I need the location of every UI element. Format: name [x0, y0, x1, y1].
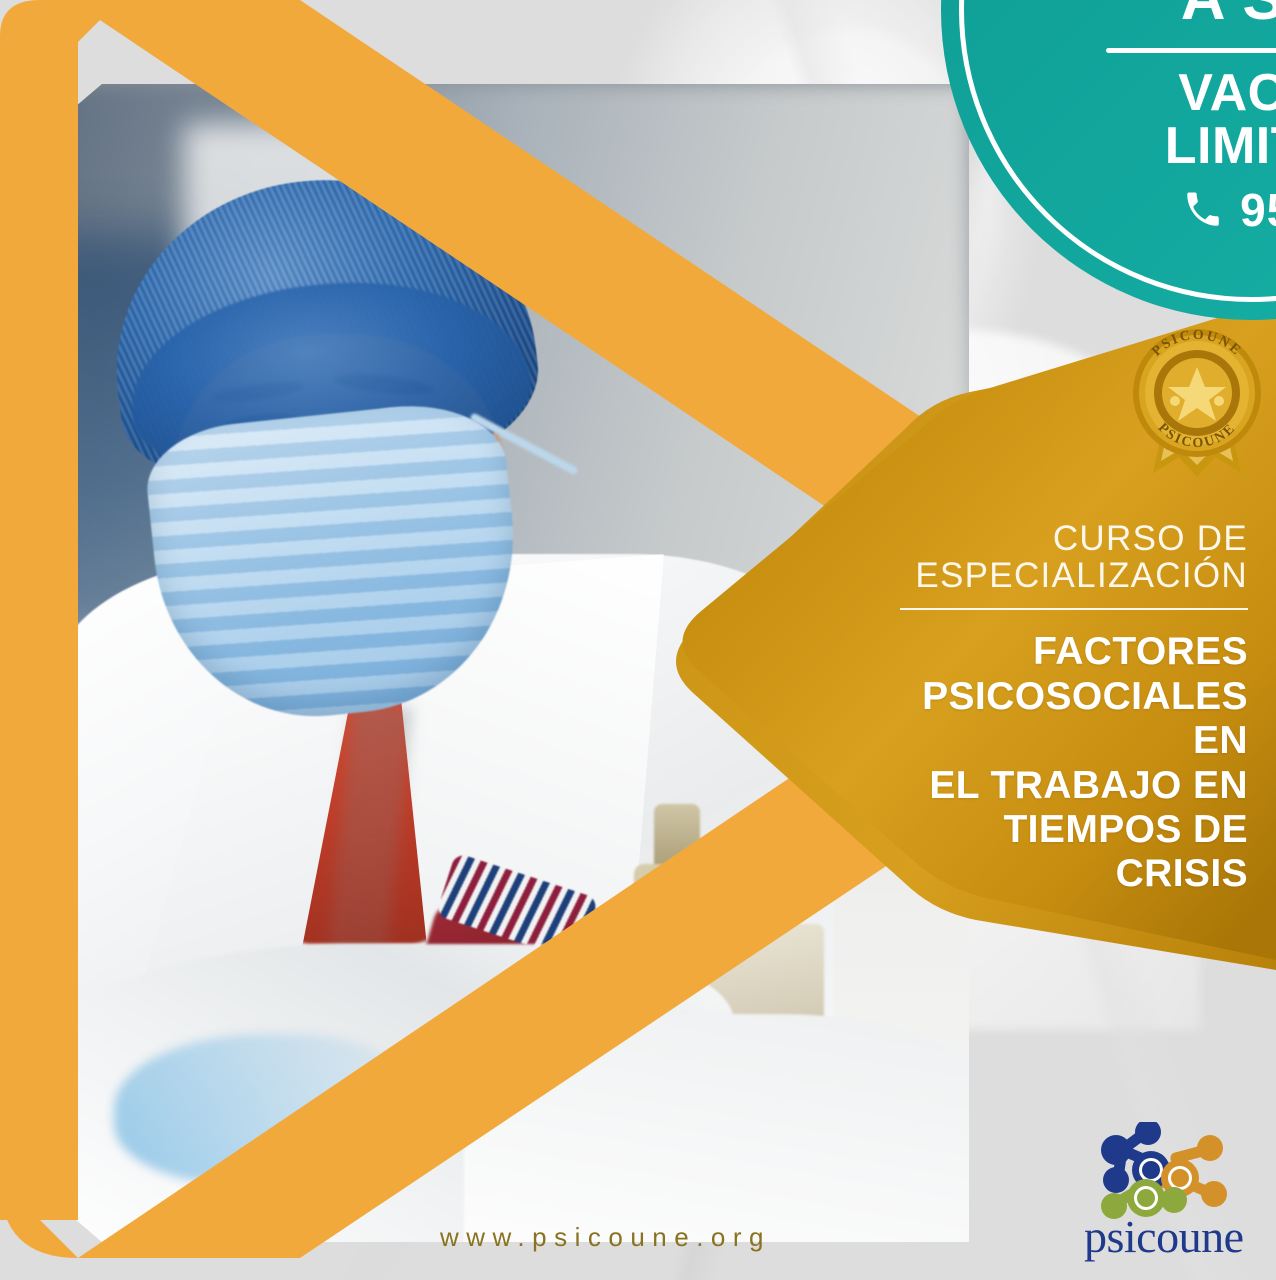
psicoune-wordmark: psicoune: [1084, 1211, 1244, 1262]
price-badge-content: A S/. VACA LIMITA 958: [941, 0, 1276, 320]
course-title-line-3: EL TRABAJO EN: [900, 764, 1248, 808]
course-kicker: CURSO DE ESPECIALIZACIÓN: [900, 520, 1248, 594]
price-label: A S/.: [941, 0, 1276, 30]
phone-row: 958: [941, 183, 1276, 237]
course-title-line-2: PSICOSOCIALES EN: [900, 675, 1248, 764]
phone-number: 958: [1240, 183, 1276, 237]
quality-seal-medal: PSICOUNE PSICOUNE: [1113, 305, 1276, 490]
course-text-block: CURSO DE ESPECIALIZACIÓN FACTORES PSICOS…: [900, 520, 1248, 897]
course-title-line-4: TIEMPOS DE: [900, 808, 1248, 852]
course-kicker-line-1: CURSO DE: [900, 520, 1248, 557]
course-kicker-line-2: ESPECIALIZACIÓN: [900, 557, 1248, 594]
seats-line-1: VACA: [941, 67, 1276, 120]
psicoune-logo: psicoune: [1080, 1122, 1260, 1262]
badge-divider: [1106, 48, 1276, 53]
course-kicker-divider: [900, 608, 1248, 610]
course-title-line-1: FACTORES: [900, 630, 1248, 674]
phone-icon: [1182, 189, 1224, 231]
seats-line-2: LIMITA: [941, 120, 1276, 173]
promotional-poster: A S/. VACA LIMITA 958: [0, 0, 1276, 1280]
molecule-icon: [1101, 1122, 1227, 1219]
website-url[interactable]: www.psicoune.org: [440, 1222, 771, 1253]
course-title: FACTORES PSICOSOCIALES EN EL TRABAJO EN …: [900, 630, 1248, 897]
course-title-line-5: CRISIS: [900, 852, 1248, 896]
